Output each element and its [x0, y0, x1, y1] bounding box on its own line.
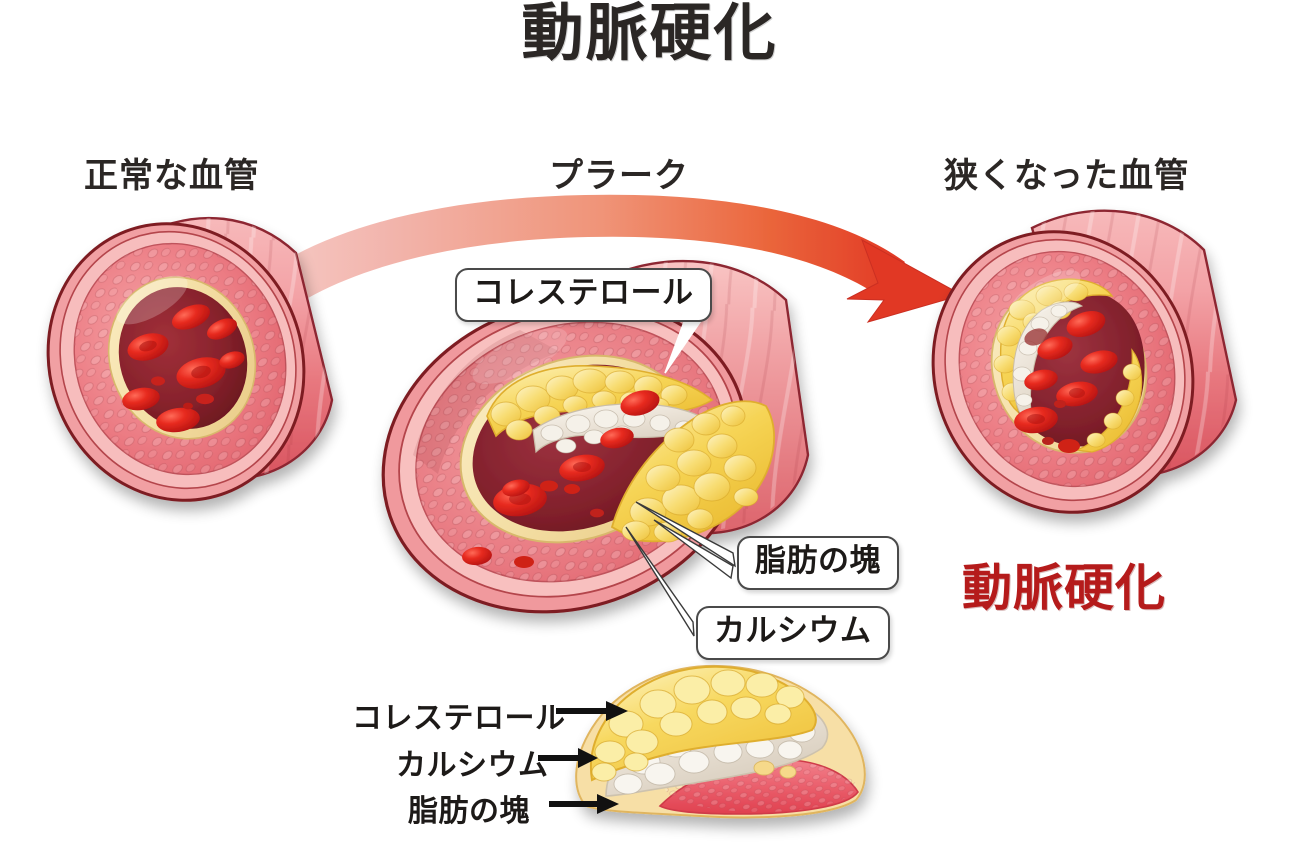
legend-item-calcium: カルシウム — [396, 740, 549, 784]
column-heading-narrowed: 狭くなった血管 — [944, 148, 1189, 197]
artery-illustrations — [0, 0, 1299, 866]
callout-fat: 脂肪の塊 — [737, 536, 899, 590]
callout-calcium: カルシウム — [696, 606, 890, 660]
legend-item-fat: 脂肪の塊 — [408, 786, 530, 830]
diagram-canvas: 動脈硬化 正常な血管 プラーク 狭くなった血管 コレステロール 脂肪の塊 カルシ… — [0, 0, 1299, 866]
legend-label-cholesterol: コレステロール — [352, 693, 566, 737]
normal-vessel-figure — [8, 186, 360, 538]
column-heading-normal: 正常な血管 — [84, 148, 259, 197]
legend-item-cholesterol: コレステロール — [352, 693, 566, 737]
legend-label-fat: 脂肪の塊 — [408, 786, 530, 830]
diagnosis-label: 動脈硬化 — [962, 548, 1166, 620]
column-heading-plaque: プラーク — [549, 148, 689, 197]
legend-label-calcium: カルシウム — [396, 740, 549, 784]
plaque-detail-figure — [576, 666, 865, 818]
callout-cholesterol: コレステロール — [455, 268, 712, 322]
narrowed-vessel-figure — [893, 180, 1255, 550]
